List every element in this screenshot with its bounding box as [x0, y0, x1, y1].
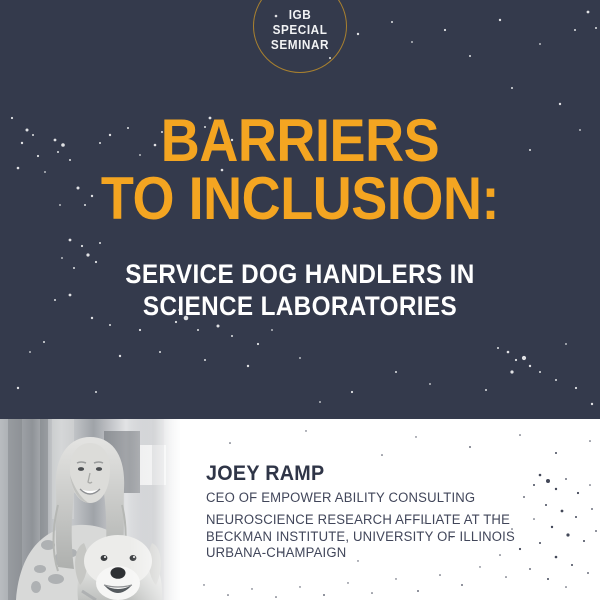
badge-line-3: SEMINAR [251, 38, 349, 53]
title-line-1: BARRIERS [30, 112, 570, 170]
speaker-info: JOEY RAMP CEO OF EMPOWER ABILITY CONSULT… [206, 463, 586, 562]
poster-subtitle: SERVICE DOG HANDLERS IN SCIENCE LABORATO… [0, 258, 600, 322]
speaker-photo [0, 419, 180, 600]
affiliation-line-1: NEUROSCIENCE RESEARCH AFFILIATE AT THE [206, 512, 575, 529]
subtitle-line-1: SERVICE DOG HANDLERS IN [30, 258, 570, 290]
poster-title: BARRIERS TO INCLUSION: [0, 112, 600, 228]
subtitle-line-2: SCIENCE LABORATORIES [30, 290, 570, 322]
speaker-panel: JOEY RAMP CEO OF EMPOWER ABILITY CONSULT… [0, 419, 600, 600]
speaker-name: JOEY RAMP [206, 463, 563, 485]
seminar-badge-text: IGB SPECIAL SEMINAR [251, 8, 349, 53]
hero-panel: IGB SPECIAL SEMINAR BARRIERS TO INCLUSIO… [0, 0, 600, 419]
badge-line-1: IGB [251, 8, 349, 23]
speaker-photo-image [0, 419, 180, 600]
speaker-role: CEO OF EMPOWER ABILITY CONSULTING [206, 489, 575, 506]
affiliation-line-2: BECKMAN INSTITUTE, UNIVERSITY OF ILLINOI… [206, 529, 575, 546]
badge-line-2: SPECIAL [251, 23, 349, 38]
affiliation-line-3: URBANA-CHAMPAIGN [206, 545, 575, 562]
speaker-affiliation: NEUROSCIENCE RESEARCH AFFILIATE AT THE B… [206, 512, 575, 562]
title-line-2: TO INCLUSION: [30, 170, 570, 228]
seminar-poster: IGB SPECIAL SEMINAR BARRIERS TO INCLUSIO… [0, 0, 600, 600]
